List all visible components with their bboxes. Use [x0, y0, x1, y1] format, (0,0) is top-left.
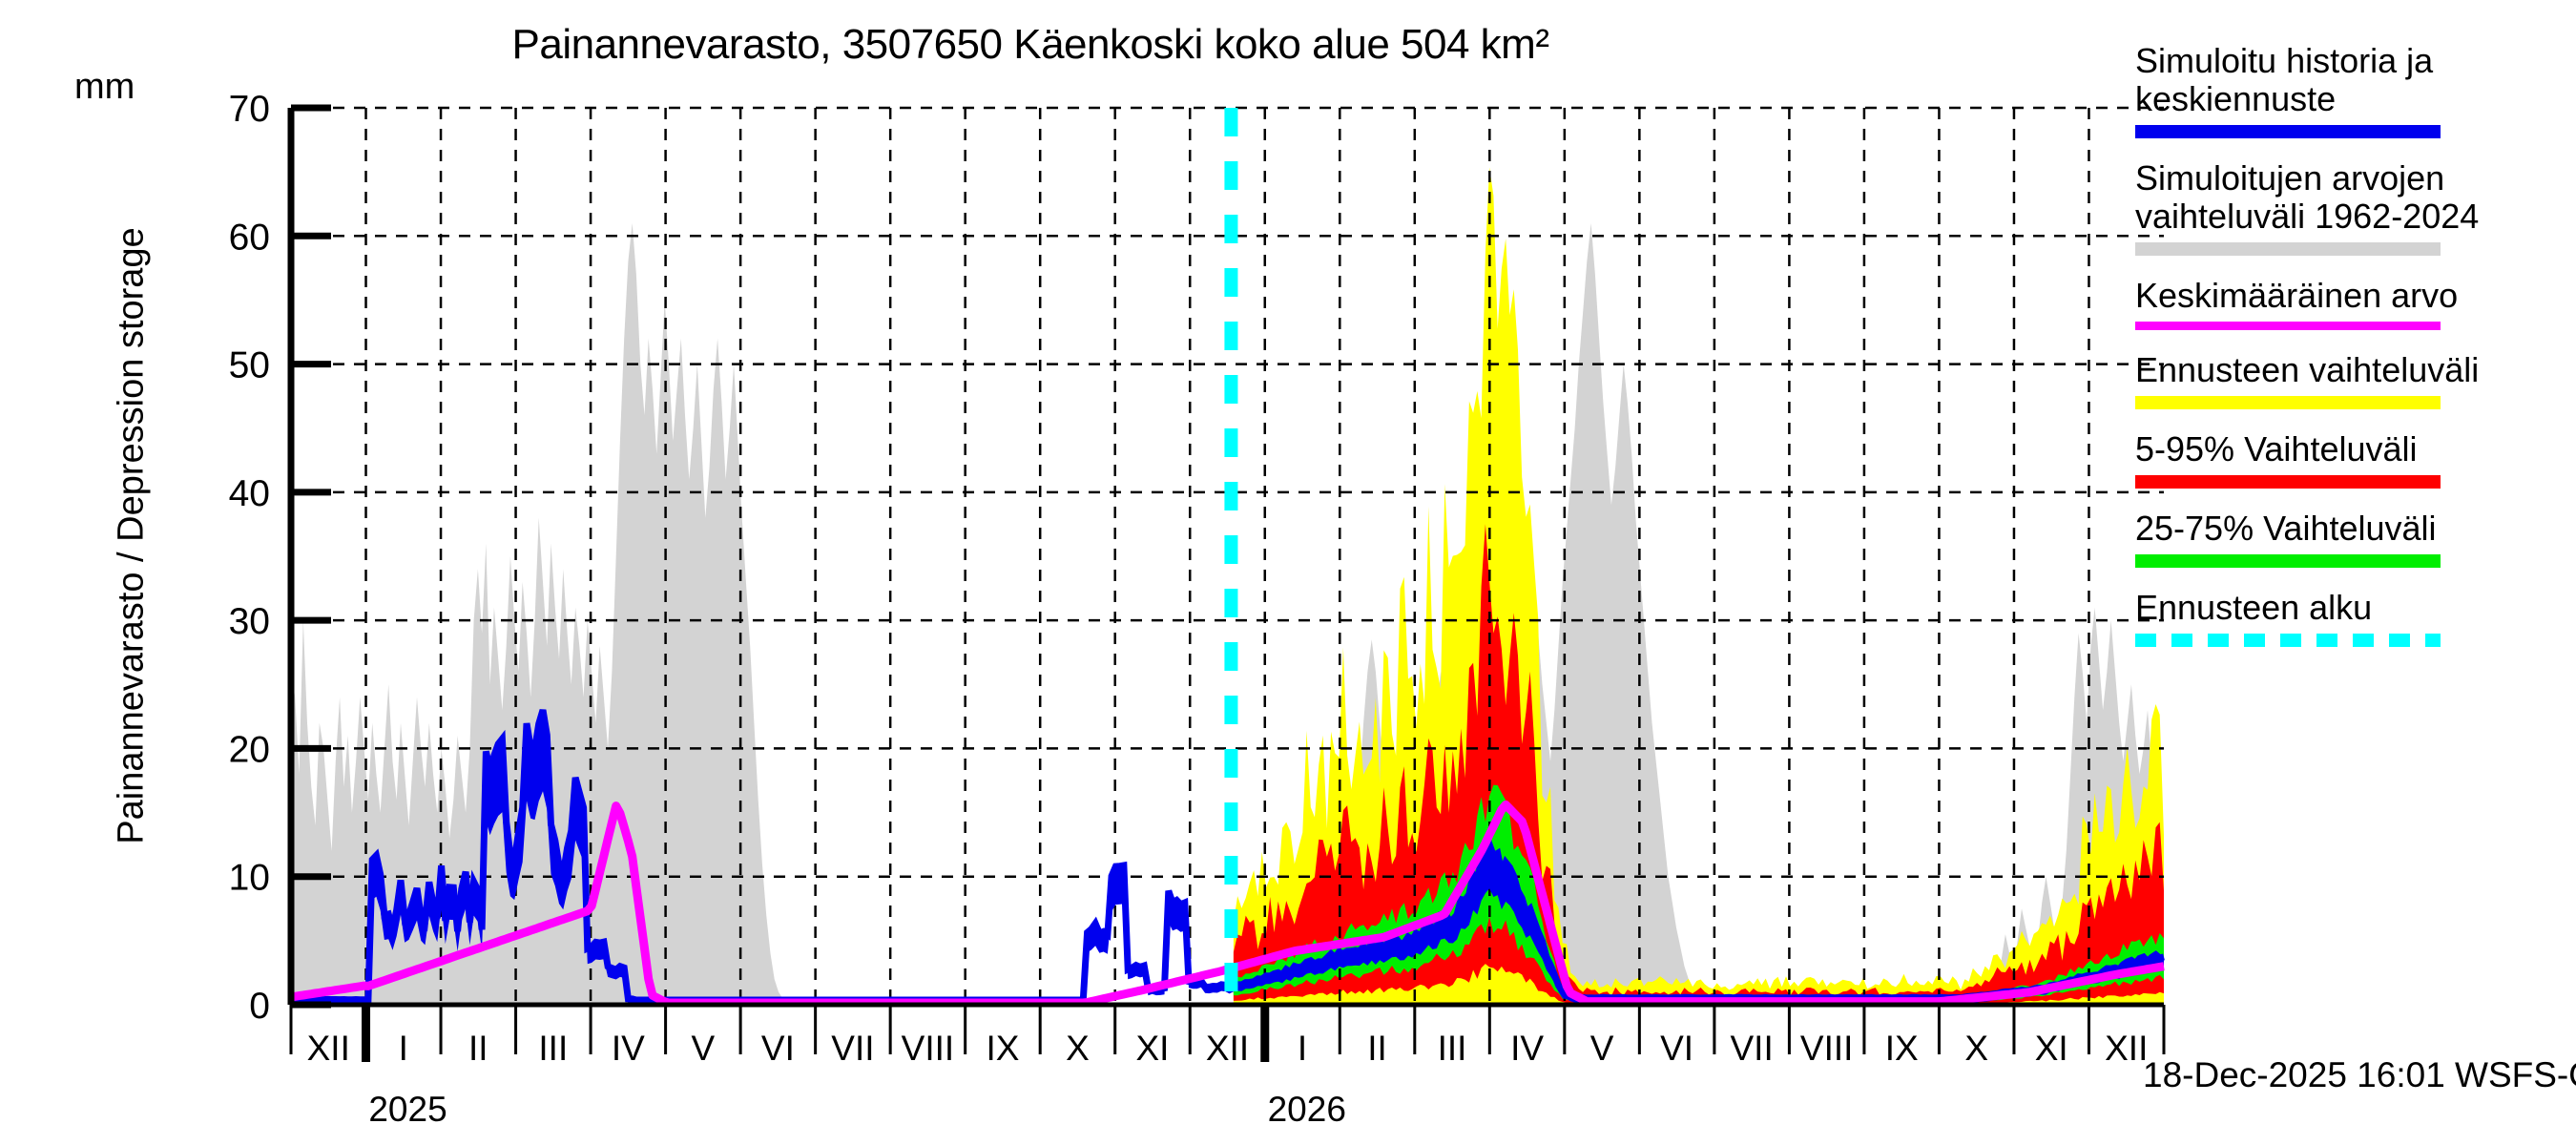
x-tick-label-month: XII	[2105, 1029, 2148, 1068]
x-tick-label-month: VII	[831, 1029, 874, 1068]
x-tick-label-month: I	[1298, 1029, 1307, 1068]
x-tick-label-month: II	[1367, 1029, 1387, 1068]
legend-swatch-solid	[2135, 554, 2441, 568]
x-tick-label-month: VIII	[902, 1029, 955, 1068]
legend-swatch-solid	[2135, 322, 2441, 330]
x-tick-label-month: III	[538, 1029, 568, 1068]
legend-swatch-solid	[2135, 475, 2441, 489]
legend-item: 25-75% Vaihteluväli	[2135, 510, 2566, 568]
x-tick-label-month: VI	[761, 1029, 795, 1068]
legend-swatch-dashed	[2135, 634, 2441, 647]
x-tick-label-month: V	[692, 1029, 716, 1068]
x-tick-label-month: XI	[2035, 1029, 2068, 1068]
x-tick-label-month: X	[1964, 1029, 1988, 1068]
x-tick-label-month: IV	[1510, 1029, 1544, 1068]
page-title: Painannevarasto, 3507650 Käenkoski koko …	[286, 21, 1775, 69]
legend-item-label: Simuloitu historia ja keskiennuste	[2135, 42, 2566, 118]
x-tick-label-month: V	[1590, 1029, 1614, 1068]
x-tick-label-month: II	[468, 1029, 488, 1068]
y-tick-label: 30	[229, 601, 270, 642]
footer-timestamp: 18-Dec-2025 16:01 WSFS-O	[2143, 1055, 2576, 1095]
x-tick-label-month: VII	[1731, 1029, 1774, 1068]
x-tick-label-month: X	[1066, 1029, 1090, 1068]
legend-item-label: 25-75% Vaihteluväli	[2135, 510, 2566, 548]
x-tick-label-month: IX	[986, 1029, 1019, 1068]
y-tick-label: 20	[229, 729, 270, 770]
x-tick-label-month: XII	[307, 1029, 350, 1068]
legend-swatch-solid	[2135, 396, 2441, 409]
x-tick-label-month: XII	[1206, 1029, 1249, 1068]
y-tick-label: 40	[229, 473, 270, 514]
y-tick-label: 60	[229, 217, 270, 258]
legend-item-label: Ennusteen alku	[2135, 589, 2566, 627]
y-axis-title: Painannevarasto / Depression storage	[112, 78, 153, 994]
y-tick-label: 0	[249, 986, 270, 1027]
legend-item: 5-95% Vaihteluväli	[2135, 430, 2566, 489]
x-tick-label-month: VI	[1660, 1029, 1693, 1068]
legend-item: Ennusteen vaihteluväli	[2135, 351, 2566, 409]
x-tick-label-month: IX	[1885, 1029, 1919, 1068]
x-tick-label-month: XI	[1135, 1029, 1169, 1068]
legend-item-label: Simuloitujen arvojen vaihteluväli 1962-2…	[2135, 159, 2566, 236]
legend-item-label: 5-95% Vaihteluväli	[2135, 430, 2566, 468]
x-tick-label-month: III	[1438, 1029, 1467, 1068]
legend-item-label: Keskimääräinen arvo	[2135, 277, 2566, 315]
legend-item: Ennusteen alku	[2135, 589, 2566, 647]
y-tick-label: 50	[229, 345, 270, 386]
x-axis-year-label: 2025	[368, 1090, 447, 1129]
legend-item-label: Ennusteen vaihteluväli	[2135, 351, 2566, 389]
x-tick-label-month: I	[399, 1029, 408, 1068]
legend-item: Simuloitujen arvojen vaihteluväli 1962-2…	[2135, 159, 2566, 256]
legend-swatch-solid	[2135, 242, 2441, 256]
y-tick-label: 70	[229, 89, 270, 130]
legend-item: Simuloitu historia ja keskiennuste	[2135, 42, 2566, 138]
legend-item: Keskimääräinen arvo	[2135, 277, 2566, 330]
chart-plot-group: 010203040506070XIIIIIIIIIVVVIVIIVIIIIXXX…	[229, 89, 2164, 1129]
x-tick-label-month: IV	[612, 1029, 645, 1068]
chart-legend: Simuloitu historia ja keskiennusteSimulo…	[2135, 42, 2566, 668]
legend-swatch-solid	[2135, 125, 2441, 138]
y-tick-label: 10	[229, 858, 270, 899]
x-tick-label-month: VIII	[1800, 1029, 1854, 1068]
x-axis-year-label: 2026	[1268, 1090, 1346, 1129]
